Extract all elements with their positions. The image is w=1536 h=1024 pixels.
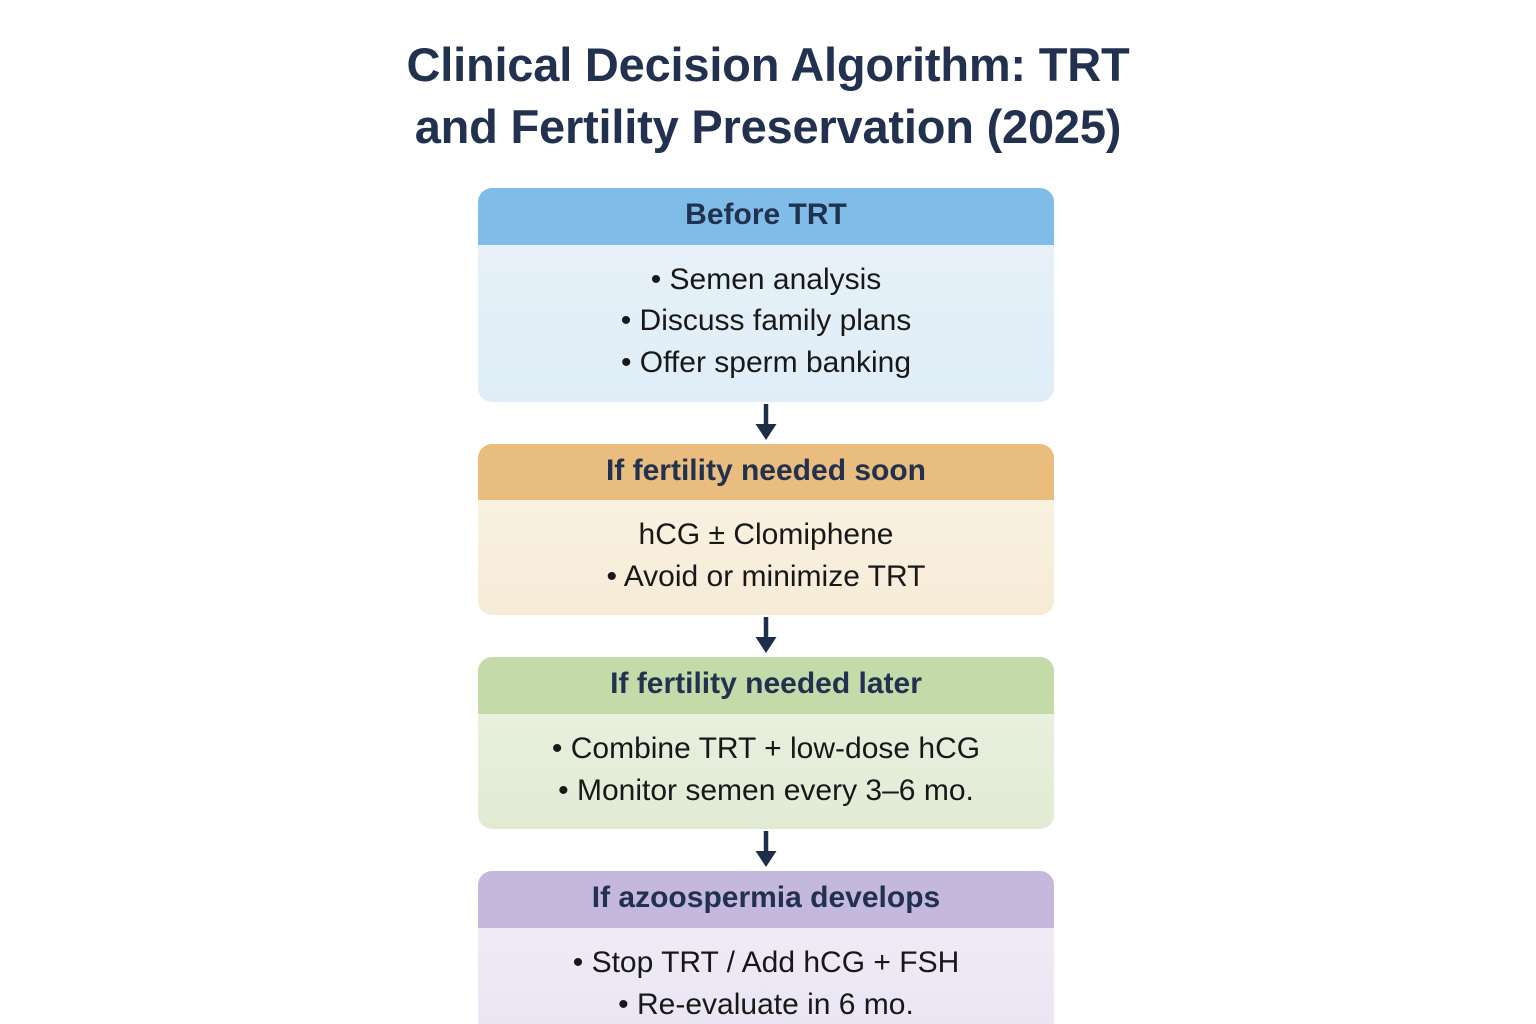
flow-step-before-trt: Before TRT• Semen analysis• Discuss fami…: [478, 188, 1054, 402]
flow-connector: [478, 829, 1054, 871]
flow-step-azoospermia-develops: If azoospermia develops• Stop TRT / Add …: [478, 871, 1054, 1024]
flow-step-line: • Re-evaluate in 6 mo.: [494, 984, 1038, 1024]
flow-step-body: hCG ± Clomiphene• Avoid or minimize TRT: [478, 500, 1054, 615]
flow-step-line: • Avoid or minimize TRT: [494, 556, 1038, 598]
flow-step-line: • Semen analysis: [494, 259, 1038, 301]
flow-step-line: hCG ± Clomiphene: [494, 514, 1038, 556]
flow-step-fertility-needed-later: If fertility needed later• Combine TRT +…: [478, 657, 1054, 829]
flow-connector: [478, 402, 1054, 444]
page-title-line-1: Clinical Decision Algorithm: TRT: [0, 34, 1536, 96]
page-title: Clinical Decision Algorithm: TRT and Fer…: [0, 34, 1536, 158]
flow-step-body: • Stop TRT / Add hCG + FSH• Re-evaluate …: [478, 928, 1054, 1024]
flow-step-line: • Monitor semen every 3–6 mo.: [494, 770, 1038, 812]
flow-step-line: • Stop TRT / Add hCG + FSH: [494, 942, 1038, 984]
flow-step-body: • Semen analysis• Discuss family plans• …: [478, 245, 1054, 402]
arrow-down-icon: [751, 616, 781, 656]
flow-step-body: • Combine TRT + low-dose hCG• Monitor se…: [478, 714, 1054, 829]
flow-step-header: If fertility needed soon: [478, 444, 1054, 501]
flow-step-header: Before TRT: [478, 188, 1054, 245]
flow-step-line: • Combine TRT + low-dose hCG: [494, 728, 1038, 770]
flow-connector: [478, 615, 1054, 657]
flow-step-fertility-needed-soon: If fertility needed soonhCG ± Clomiphene…: [478, 444, 1054, 616]
flowchart: Before TRT• Semen analysis• Discuss fami…: [478, 188, 1054, 1024]
arrow-down-icon: [751, 830, 781, 870]
flow-step-line: • Offer sperm banking: [494, 342, 1038, 384]
flow-step-header: If azoospermia develops: [478, 871, 1054, 928]
diagram-canvas: Clinical Decision Algorithm: TRT and Fer…: [0, 0, 1536, 1024]
page-title-line-2: and Fertility Preservation (2025): [0, 96, 1536, 158]
arrow-down-icon: [751, 403, 781, 443]
flow-step-line: • Discuss family plans: [494, 300, 1038, 342]
flow-step-header: If fertility needed later: [478, 657, 1054, 714]
